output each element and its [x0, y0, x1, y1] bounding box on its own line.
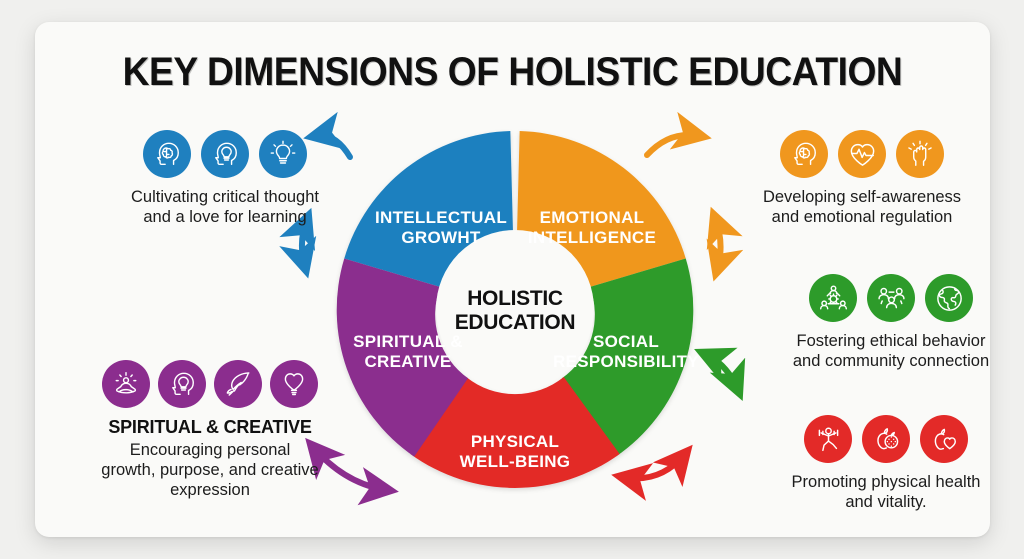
group-intellectual: Cultivating critical thought and a love …	[95, 130, 355, 227]
head-brain-icon[interactable]	[780, 130, 828, 178]
feather-quill-icon[interactable]	[214, 360, 262, 408]
group-spiritual: SPIRITUAL & CREATIVE Encouraging persona…	[60, 360, 360, 500]
group-emotional: Developing self-awareness and emotional …	[729, 130, 990, 227]
lightbulb-icon[interactable]	[259, 130, 307, 178]
group-text-emotional: Developing self-awareness and emotional …	[729, 187, 990, 227]
group-text-social: Fostering ethical behavior and community…	[765, 331, 990, 371]
segment-label-spiritual-line1: SPIRITUAL &	[353, 332, 463, 351]
group-social: Fostering ethical behavior and community…	[765, 274, 990, 371]
icon-row-intellectual	[95, 130, 355, 178]
icon-row-emotional	[729, 130, 990, 178]
segment-label-intellectual-line1: INTELLECTUAL	[375, 208, 507, 227]
segment-label-social-line1: SOCIAL	[593, 332, 659, 351]
segment-label-emotional-line1: EMOTIONAL	[540, 208, 645, 227]
group-text-spiritual: Encouraging personal growth, purpose, an…	[60, 440, 360, 500]
people-network-icon[interactable]	[809, 274, 857, 322]
segment-label-physical-line2: WELL-BEING	[460, 452, 571, 471]
segment-label-intellectual-line2: GROWHT	[401, 228, 481, 247]
group-heading-spiritual: SPIRITUAL & CREATIVE	[60, 417, 360, 438]
segment-label-social-line2: RESPONSIBILITY	[553, 352, 699, 371]
icon-row-physical	[761, 415, 990, 463]
globe-icon[interactable]	[925, 274, 973, 322]
segment-label-physical-line1: PHYSICAL	[471, 432, 559, 451]
heart-pulse-icon[interactable]	[838, 130, 886, 178]
segment-label-emotional-line2: INTELLIGENCE	[528, 228, 656, 247]
hub-label-line2: EDUCATION	[455, 311, 576, 334]
head-brain-icon[interactable]	[143, 130, 191, 178]
group-text-physical: Promoting physical health and vitality.	[761, 472, 990, 512]
raised-fist-icon[interactable]	[896, 130, 944, 178]
apple-heart-icon[interactable]	[920, 415, 968, 463]
meditation-icon[interactable]	[102, 360, 150, 408]
exercise-person-icon[interactable]	[804, 415, 852, 463]
holistic-education-wheel: INTELLECTUAL GROWHT EMOTIONAL INTELLIGEN…	[300, 104, 730, 524]
fruits-icon[interactable]	[862, 415, 910, 463]
group-text-intellectual: Cultivating critical thought and a love …	[95, 187, 355, 227]
page-title: KEY DIMENSIONS OF HOLISTIC EDUCATION	[68, 50, 956, 95]
people-group-icon[interactable]	[867, 274, 915, 322]
head-lightbulb-icon[interactable]	[201, 130, 249, 178]
icon-row-social	[765, 274, 990, 322]
hub-label-line1: HOLISTIC	[467, 287, 563, 310]
heart-lightbulb-icon[interactable]	[270, 360, 318, 408]
segment-label-spiritual-line2: CREATIVE	[364, 352, 451, 371]
group-physical: Promoting physical health and vitality.	[761, 415, 990, 512]
head-lightbulb-icon[interactable]	[158, 360, 206, 408]
icon-row-spiritual	[60, 360, 360, 408]
infographic-card: KEY DIMENSIONS OF HOLISTIC EDUCATION	[35, 22, 990, 537]
